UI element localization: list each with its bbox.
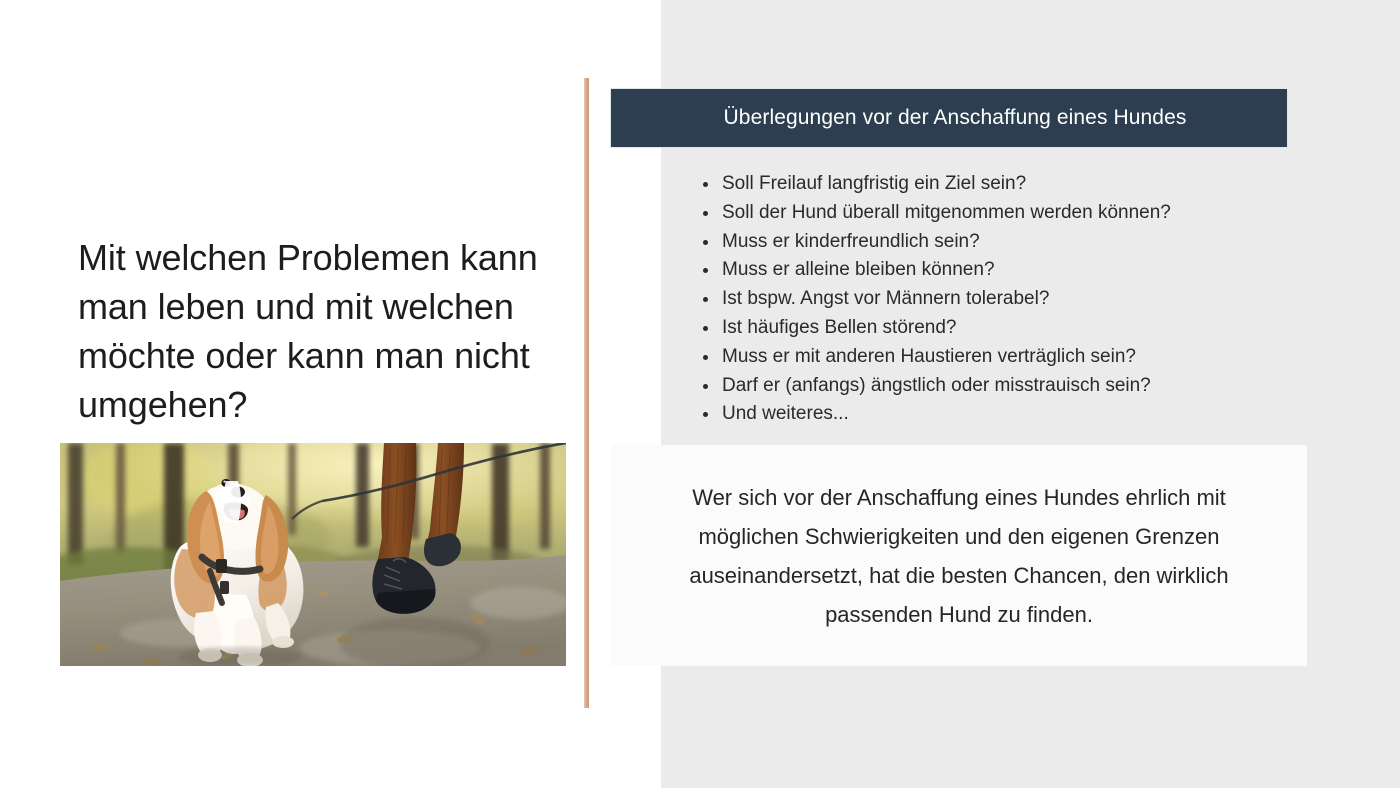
list-item: Darf er (anfangs) ängstlich oder misstra… bbox=[700, 372, 1260, 401]
summary-callout-text: Wer sich vor der Anschaffung eines Hunde… bbox=[649, 478, 1269, 634]
vertical-divider bbox=[584, 78, 589, 708]
summary-callout-box: Wer sich vor der Anschaffung eines Hunde… bbox=[611, 445, 1307, 666]
list-item: Soll Freilauf langfristig ein Ziel sein? bbox=[700, 170, 1260, 199]
list-item: Ist bspw. Angst vor Männern tolerabel? bbox=[700, 285, 1260, 314]
list-item: Ist häufiges Bellen störend? bbox=[700, 314, 1260, 343]
slide-canvas: Mit welchen Problemen kann man leben und… bbox=[0, 0, 1400, 788]
dog-walking-photo bbox=[60, 443, 566, 666]
list-item: Muss er alleine bleiben können? bbox=[700, 256, 1260, 285]
considerations-list: Soll Freilauf langfristig ein Ziel sein?… bbox=[700, 170, 1260, 429]
list-item: Und weiteres... bbox=[700, 400, 1260, 429]
list-item: Muss er kinderfreundlich sein? bbox=[700, 228, 1260, 257]
section-header-bar: Überlegungen vor der Anschaffung eines H… bbox=[610, 88, 1288, 148]
section-header-text: Überlegungen vor der Anschaffung eines H… bbox=[712, 106, 1187, 130]
list-item: Muss er mit anderen Haustieren verträgli… bbox=[700, 343, 1260, 372]
list-item: Soll der Hund überall mitgenommen werden… bbox=[700, 199, 1260, 228]
page-title: Mit welchen Problemen kann man leben und… bbox=[78, 233, 556, 429]
